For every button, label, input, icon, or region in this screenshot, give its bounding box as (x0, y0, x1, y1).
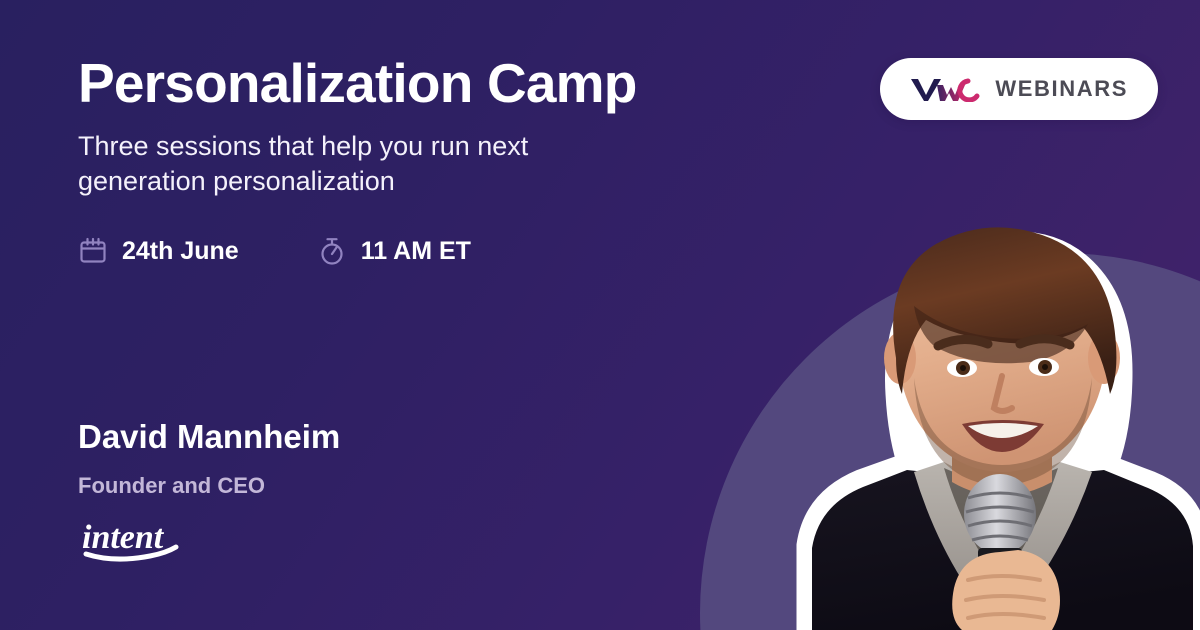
event-date-label: 24th June (122, 239, 239, 264)
pupil-right (1042, 364, 1048, 370)
speaker-block: David Mannheim Founder and CEO intent (78, 420, 340, 563)
badge-label: WEBINARS (995, 78, 1128, 100)
event-time: 11 AM ET (317, 236, 471, 266)
event-meta-row: 24th June 11 AM ET (78, 236, 471, 266)
event-time-label: 11 AM ET (361, 239, 471, 264)
speaker-photo-illustration (700, 180, 1200, 630)
calendar-icon (78, 236, 108, 266)
vwo-logo-icon (910, 76, 982, 102)
speaker-role: Founder and CEO (78, 475, 340, 497)
intent-logo: intent (78, 517, 193, 563)
vwo-letter-v (911, 79, 941, 101)
speaker-name: David Mannheim (78, 420, 340, 453)
mic-head (964, 474, 1036, 554)
page-title: Personalization Camp (78, 54, 738, 113)
headline-block: Personalization Camp Three sessions that… (78, 54, 738, 200)
webinar-banner: WEBINARS Personalization Camp Three sess… (0, 0, 1200, 630)
stopwatch-icon (317, 236, 347, 266)
pupil-left (960, 365, 966, 371)
page-subtitle: Three sessions that help you run next ge… (78, 129, 648, 199)
speaker-photo (700, 180, 1200, 630)
intent-logo-text: intent (82, 519, 165, 556)
vwo-webinars-badge[interactable]: WEBINARS (880, 58, 1158, 120)
event-date: 24th June (78, 236, 239, 266)
